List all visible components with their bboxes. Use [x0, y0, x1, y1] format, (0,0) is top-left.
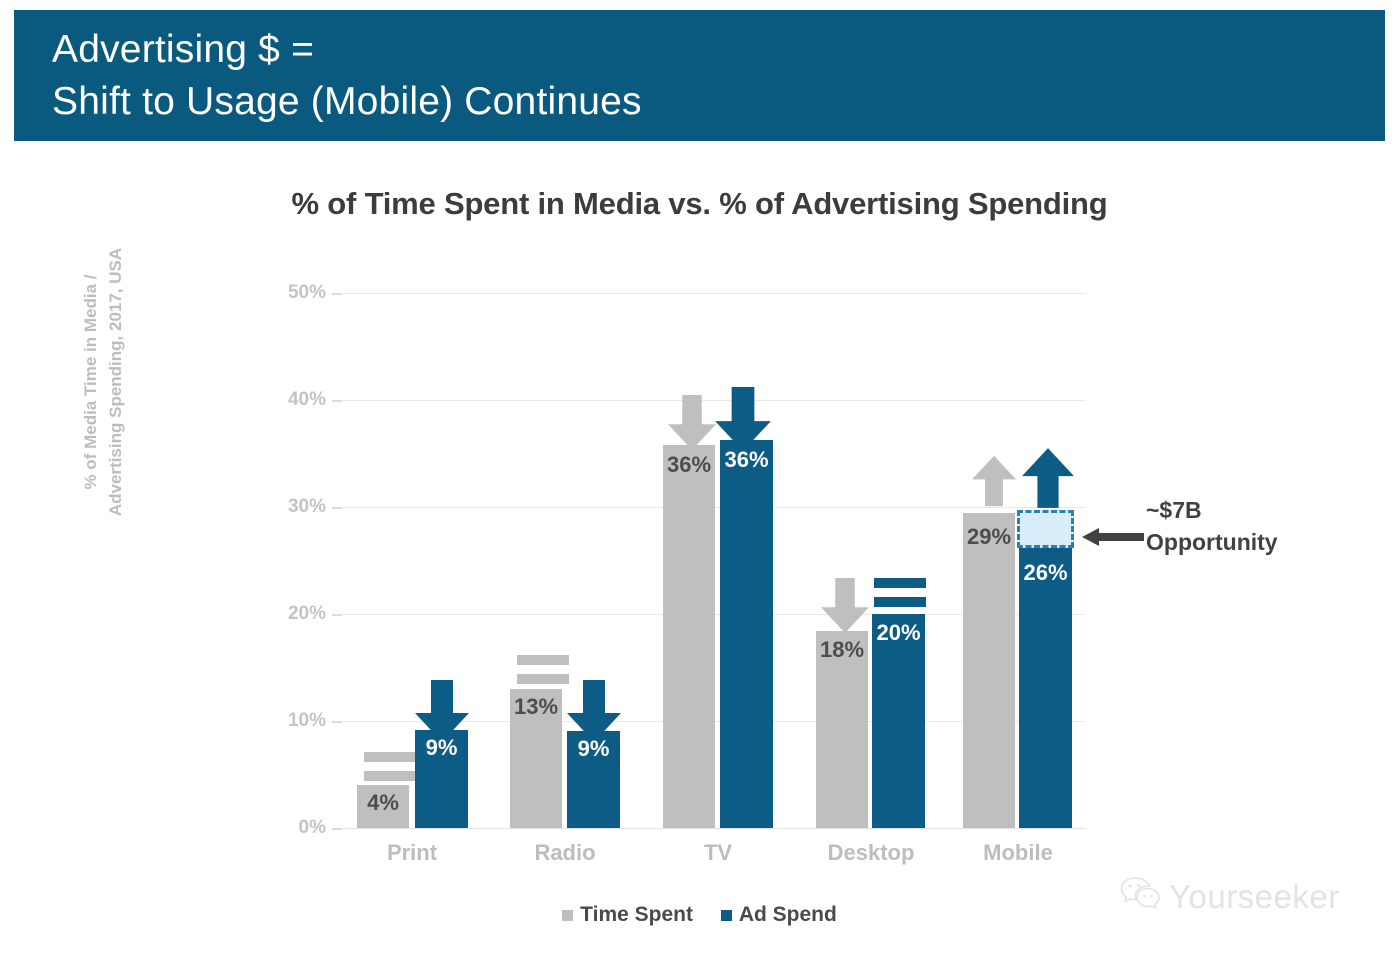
bar-ad-spend-desktop[interactable] — [872, 614, 925, 828]
bar-label-ad-spend-print: 9% — [415, 735, 468, 761]
tickmark-50 — [332, 293, 342, 295]
legend-label-ad-spend: Ad Spend — [739, 903, 837, 926]
wechat-icon — [1120, 876, 1169, 918]
indicator-up-time-spent-mobile — [972, 455, 1016, 507]
legend-swatch-time-spent — [562, 910, 573, 921]
bar-label-ad-spend-desktop: 20% — [872, 620, 925, 646]
y-tick-label-50: 50% — [264, 282, 326, 304]
opportunity-annotation-line-2: Opportunity — [1146, 526, 1278, 558]
y-tick-label-40: 40% — [264, 389, 326, 411]
category-label-desktop: Desktop — [806, 840, 936, 866]
y-tick-label-10: 10% — [264, 710, 326, 732]
indicator-equals-time-spent-radio — [517, 653, 569, 686]
legend-item-ad-spend[interactable]: Ad Spend — [721, 903, 837, 927]
indicator-equals-time-spent-print — [364, 750, 416, 783]
category-label-mobile: Mobile — [953, 840, 1083, 866]
legend-swatch-ad-spend — [721, 910, 732, 921]
indicator-down-time-spent-desktop — [821, 578, 869, 633]
bar-label-ad-spend-radio: 9% — [567, 736, 620, 762]
tickmark-30 — [332, 507, 342, 509]
opportunity-highlight-box — [1017, 510, 1074, 548]
watermark: Yourseeker — [1120, 876, 1340, 918]
indicator-equals-ad-spend-desktop — [874, 576, 926, 609]
y-axis-title-line-2: Advertising Spending, 2017, USA — [103, 212, 128, 552]
y-axis-title: % of Media Time in Media / Advertising S… — [78, 212, 138, 552]
gridline-0 — [336, 828, 1086, 829]
bar-label-time-spent-tv: 36% — [663, 452, 715, 478]
bar-label-time-spent-print: 4% — [357, 790, 409, 816]
category-label-radio: Radio — [500, 840, 630, 866]
bar-label-time-spent-radio: 13% — [510, 694, 562, 720]
legend-label-time-spent: Time Spent — [580, 903, 693, 926]
indicator-down-time-spent-tv — [668, 395, 716, 450]
bar-ad-spend-mobile[interactable] — [1019, 545, 1072, 828]
chart-plot-area: % of Media Time in Media / Advertising S… — [0, 0, 1399, 960]
bar-ad-spend-tv[interactable] — [720, 440, 773, 828]
indicator-up-ad-spend-mobile — [1022, 448, 1074, 508]
gridline-50 — [336, 293, 1086, 294]
bar-label-ad-spend-tv: 36% — [720, 447, 773, 473]
bar-time-spent-mobile[interactable] — [963, 513, 1015, 828]
watermark-text: Yourseeker — [1169, 878, 1340, 916]
y-tick-label-30: 30% — [264, 496, 326, 518]
y-tick-label-0: 0% — [264, 817, 326, 839]
tickmark-10 — [332, 721, 342, 723]
legend-item-time-spent[interactable]: Time Spent — [562, 903, 693, 927]
bar-label-ad-spend-mobile: 26% — [1019, 560, 1072, 586]
tickmark-0 — [332, 828, 342, 830]
y-tick-label-20: 20% — [264, 603, 326, 625]
bar-time-spent-tv[interactable] — [663, 445, 715, 828]
category-label-print: Print — [347, 840, 477, 866]
tickmark-20 — [332, 614, 342, 616]
opportunity-callout-arrow — [1082, 528, 1144, 546]
tickmark-40 — [332, 400, 342, 402]
opportunity-annotation-line-1: ~$7B — [1146, 494, 1278, 526]
category-label-tv: TV — [653, 840, 783, 866]
opportunity-annotation: ~$7B Opportunity — [1146, 494, 1278, 558]
bar-label-time-spent-mobile: 29% — [963, 524, 1015, 550]
y-axis-title-line-1: % of Media Time in Media / — [78, 212, 103, 552]
bar-label-time-spent-desktop: 18% — [816, 637, 868, 663]
